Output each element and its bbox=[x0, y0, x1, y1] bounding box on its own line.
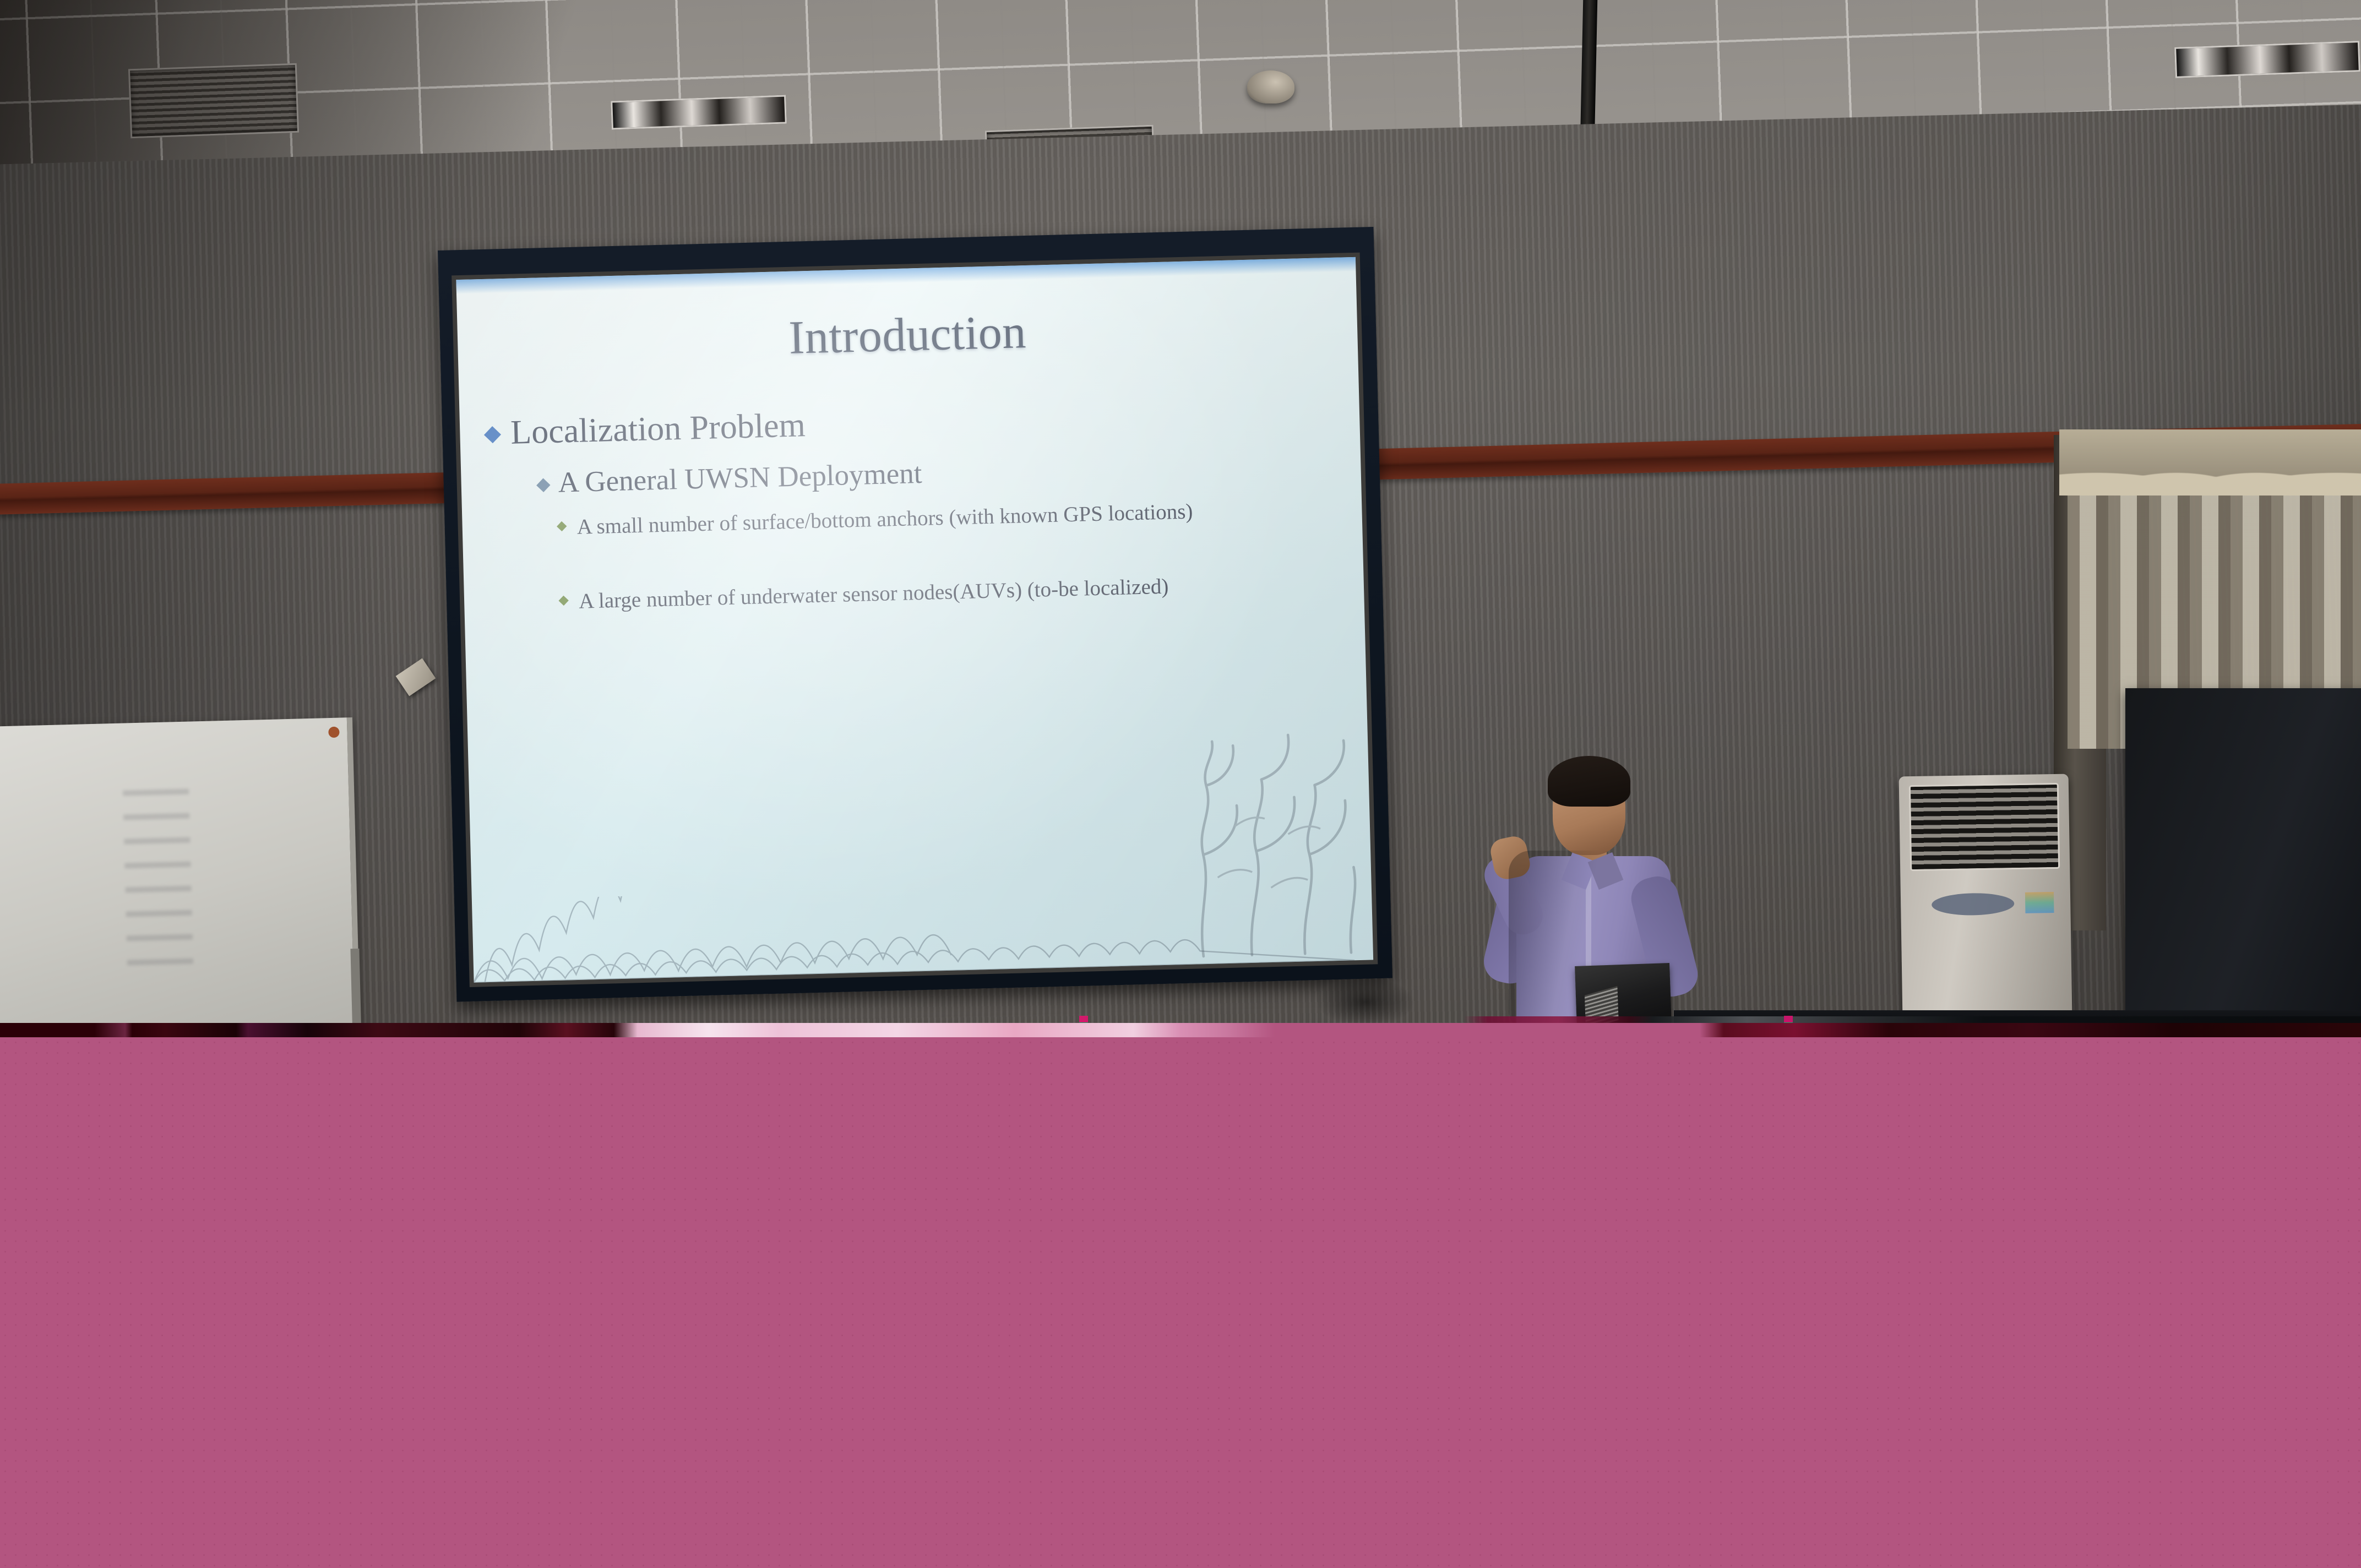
ceiling-light-icon bbox=[611, 95, 787, 129]
ac-grille-icon bbox=[1909, 783, 2060, 871]
air-conditioner-unit bbox=[1899, 774, 2072, 1019]
air-vent-icon bbox=[128, 63, 299, 139]
corruption-dither-pattern bbox=[0, 1037, 2361, 1568]
presenter-hair bbox=[1548, 756, 1630, 807]
projection-screen: Introduction Localization Problem A Gene… bbox=[438, 227, 1392, 1002]
dark-cabinet bbox=[2125, 688, 2361, 1019]
slide-light-falloff bbox=[456, 257, 1373, 983]
slide-surface: Introduction Localization Problem A Gene… bbox=[456, 257, 1373, 983]
ac-brand-badge bbox=[1932, 892, 2015, 916]
photograph-canvas: Introduction Localization Problem A Gene… bbox=[0, 0, 2361, 1568]
ac-indicator-strip bbox=[2025, 892, 2054, 913]
corruption-glitch-band bbox=[0, 1023, 2361, 1037]
ceiling-light-icon bbox=[2174, 41, 2360, 78]
smoke-detector-icon bbox=[1247, 70, 1294, 104]
magnet-icon bbox=[328, 727, 339, 738]
whiteboard bbox=[0, 717, 360, 1035]
whiteboard-erased-marks bbox=[123, 782, 193, 966]
curtain-valance bbox=[2059, 429, 2361, 496]
corrupted-magenta-region bbox=[0, 1037, 2361, 1568]
